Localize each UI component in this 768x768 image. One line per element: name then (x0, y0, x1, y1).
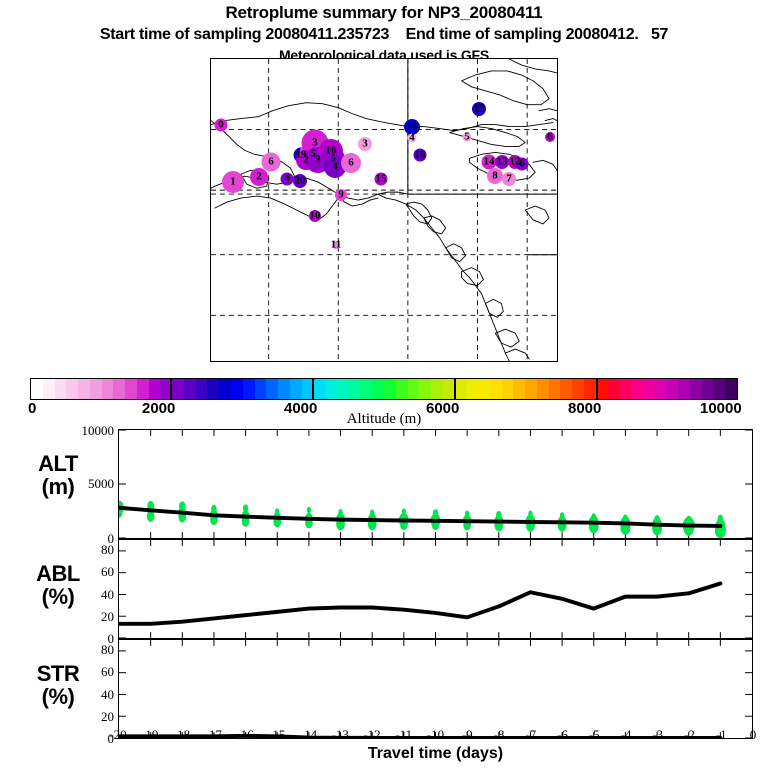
xaxis-tick-label: -14 (300, 727, 317, 743)
colorbar-swatch (690, 379, 702, 399)
colorbar-swatch (537, 379, 549, 399)
xaxis-tick-label: -15 (268, 727, 285, 743)
plume-marker-label: 15 (376, 174, 387, 185)
colorbar-divider (312, 378, 314, 400)
colorbar-swatch (466, 379, 478, 399)
colorbar-swatch (290, 379, 302, 399)
colorbar-swatch (549, 379, 561, 399)
plume-marker-label: 4 (284, 174, 290, 185)
colorbar-swatch (184, 379, 196, 399)
colorbar-swatch (149, 379, 161, 399)
colorbar-swatch (372, 379, 384, 399)
str-plot[interactable] (118, 639, 753, 739)
xaxis-tick-label: -12 (363, 727, 380, 743)
colorbar-swatch (78, 379, 90, 399)
xaxis-tick-label: -8 (494, 727, 505, 743)
plume-marker-label: 6 (268, 157, 274, 168)
colorbar-swatch (525, 379, 537, 399)
abl-ytick-40: 40 (54, 587, 114, 603)
colorbar-swatch (325, 379, 337, 399)
plume-marker-label: 5 (464, 132, 470, 143)
colorbar-swatch (643, 379, 655, 399)
xaxis-tick-label: -10 (427, 727, 444, 743)
abl-plot[interactable] (118, 539, 753, 639)
colorbar-swatch (713, 379, 725, 399)
colorbar-swatch (313, 379, 325, 399)
colorbar-swatch (207, 379, 219, 399)
colorbar-swatch (113, 379, 125, 399)
plume-marker-label: 3 (362, 139, 368, 150)
altitude-colorbar[interactable] (30, 378, 738, 400)
colorbar-swatch (584, 379, 596, 399)
plume-marker-label: 10 (310, 211, 321, 222)
colorbar-swatch (478, 379, 490, 399)
colorbar-swatch (266, 379, 278, 399)
plume-marker-label: 14 (484, 157, 495, 168)
plume-marker-label: 4 (332, 162, 338, 173)
plume-marker-label: 6 (519, 159, 525, 170)
plume-marker-label: 0 (218, 120, 224, 131)
colorbar-divider (170, 378, 172, 400)
colorbar-swatch (725, 379, 737, 399)
xaxis-tick-label: -13 (332, 727, 349, 743)
plume-marker-label: 17 (474, 104, 485, 115)
colorbar-swatch (443, 379, 455, 399)
colorbar-swatch (337, 379, 349, 399)
colorbar-swatch (243, 379, 255, 399)
colorbar-swatch (572, 379, 584, 399)
abl-ytick-60: 60 (54, 564, 114, 580)
colorbar-swatch (431, 379, 443, 399)
xaxis-tick-label: -17 (205, 727, 222, 743)
colorbar-swatch (419, 379, 431, 399)
retroplume-figure: Retroplume summary for NP3_20080411 Star… (0, 0, 768, 768)
x-tickmarks (151, 640, 721, 738)
xaxis-title: Travel time (days) (118, 745, 753, 763)
alt-ytick-10000: 10000 (54, 423, 114, 439)
xaxis-tick-label: -1 (716, 727, 727, 743)
plume-marker-label: 3 (312, 138, 318, 149)
plume-marker-label: 6 (547, 132, 553, 143)
plume-marker-label: 13 (497, 157, 508, 168)
xaxis-tick-label: -3 (652, 727, 663, 743)
plume-marker-label: 20 (295, 176, 306, 187)
y-tickmarks (119, 651, 752, 738)
str-ytick-20: 20 (54, 709, 114, 725)
str-ytick-60: 60 (54, 664, 114, 680)
colorbar-swatch (125, 379, 137, 399)
colorbar-swatch (702, 379, 714, 399)
data-line (119, 584, 720, 624)
alt-ytick-5000: 5000 (54, 476, 114, 492)
colorbar-swatch (219, 379, 231, 399)
data-line (119, 508, 720, 526)
alt-ytick-labels: 0 5000 10000 (50, 429, 114, 539)
colorbar-swatch (560, 379, 572, 399)
abl-ytick-80: 80 (54, 542, 114, 558)
plume-marker-label: 6 (348, 158, 354, 169)
xaxis-tick-label: -16 (236, 727, 253, 743)
colorbar-swatch (90, 379, 102, 399)
plume-marker-label: 2 (256, 172, 262, 183)
map-gridlines (211, 59, 557, 361)
plume-marker-label: 4 (409, 133, 415, 144)
abl-ytick-labels: 0 20 40 60 80 (50, 539, 114, 639)
xaxis-tick-label: -9 (462, 727, 473, 743)
plume-marker-label: 9 (338, 190, 344, 201)
altitude-plot-graphics (119, 430, 752, 538)
plume-marker-label: 8 (492, 171, 498, 182)
plume-marker-label: 2 (303, 155, 309, 166)
plume-marker-label: 1 (230, 177, 236, 188)
colorbar-swatch (66, 379, 78, 399)
retroplume-map[interactable]: 0126420195323165463159101118416175614131… (210, 58, 558, 362)
map-graphics (211, 59, 557, 361)
colorbar-swatch (513, 379, 525, 399)
colorbar-swatch (349, 379, 361, 399)
colorbar-title: Altitude (m) (0, 411, 768, 428)
plume-marker-label: 11 (331, 240, 341, 251)
str-plot-graphics (119, 640, 752, 738)
xaxis-tick-label: -11 (395, 727, 412, 743)
xaxis-tick-label: -7 (525, 727, 536, 743)
colorbar-swatch (137, 379, 149, 399)
y-tickmarks (119, 551, 752, 638)
colorbar-swatch (172, 379, 184, 399)
x-tickmarks (151, 540, 721, 638)
xaxis-tick-label: -20 (109, 727, 126, 743)
colorbar-swatch (502, 379, 514, 399)
colorbar-swatch (396, 379, 408, 399)
plume-marker-label: 7 (506, 174, 512, 185)
colorbar-gradient (30, 378, 738, 400)
str-ytick-80: 80 (54, 642, 114, 658)
sampling-time-subtitle: Start time of sampling 20080411.235723 E… (0, 26, 768, 44)
plume-marker-label: 3 (315, 155, 321, 166)
colorbar-swatch (255, 379, 267, 399)
colorbar-swatch (631, 379, 643, 399)
xaxis-tick-label: 0 (750, 727, 757, 743)
xaxis-tick-label: -5 (589, 727, 600, 743)
colorbar-swatch (678, 379, 690, 399)
str-ytick-labels: 0 20 40 60 80 (50, 639, 114, 739)
colorbar-swatch (384, 379, 396, 399)
colorbar-swatch (360, 379, 372, 399)
colorbar-swatch (408, 379, 420, 399)
colorbar-swatch (196, 379, 208, 399)
colorbar-swatch (455, 379, 467, 399)
colorbar-swatch (619, 379, 631, 399)
xaxis-tick-label: -2 (684, 727, 695, 743)
abl-plot-graphics (119, 540, 752, 638)
colorbar-swatch (655, 379, 667, 399)
abl-ytick-20: 20 (54, 609, 114, 625)
colorbar-swatch (278, 379, 290, 399)
xaxis-tick-label: -19 (141, 727, 158, 743)
colorbar-swatch (490, 379, 502, 399)
xaxis-tick-label: -6 (557, 727, 568, 743)
colorbar-swatch (55, 379, 67, 399)
str-ytick-40: 40 (54, 687, 114, 703)
xaxis-tick-label: -18 (173, 727, 190, 743)
colorbar-swatch (666, 379, 678, 399)
colorbar-divider (454, 378, 456, 400)
plume-marker-label: 16 (415, 150, 426, 161)
colorbar-swatch (231, 379, 243, 399)
colorbar-swatch (43, 379, 55, 399)
xaxis-tick-label: -4 (621, 727, 632, 743)
colorbar-swatch (102, 379, 114, 399)
colorbar-divider (596, 378, 598, 400)
colorbar-swatch (31, 379, 43, 399)
colorbar-swatch (608, 379, 620, 399)
page-title: Retroplume summary for NP3_20080411 (0, 3, 768, 23)
altitude-plot[interactable] (118, 429, 753, 539)
str-ytick-0: 0 (54, 731, 114, 747)
